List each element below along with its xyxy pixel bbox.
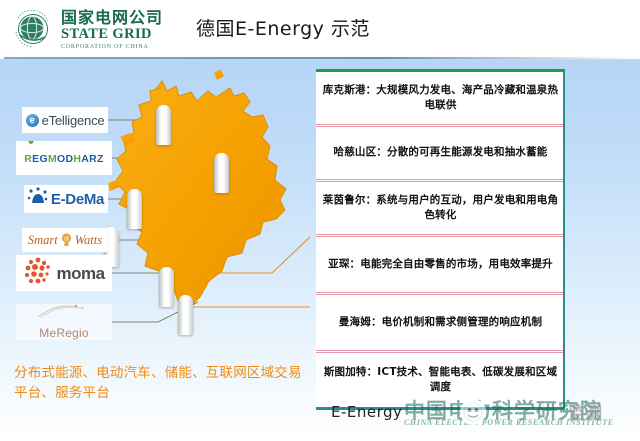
logo-card-smartwatts[interactable]: Smart @ Watts [22,228,108,252]
edema-burst-icon [28,187,48,211]
logo-label-etelligence: eTelligence [42,114,105,127]
panel-item-mannheim: 曼海姆：电价机制和需求侧管理的响应机制 [316,295,565,350]
logo-label-smart: Smart [28,234,58,247]
logo-label-meregio: MeRegio [39,326,88,340]
panel-item-harz: 哈慈山区：分散的可再生能源发电和抽水蓄能 [316,127,565,179]
regmodharz-arc-icon [27,141,101,148]
map-pin-rheinruhr [127,189,142,229]
meregio-swoosh-icon [36,306,92,323]
panel-item-text: 哈慈山区：分散的可再生能源发电和抽水蓄能 [334,145,548,160]
city-description-panel: 库克斯港：大规模风力发电、海产品冷藏和温泉热电联供 哈慈山区：分散的可再生能源发… [316,69,565,410]
panel-item-stuttgart: 斯图加特：ICT技术、智能电表、低碳发展和区域调度 [316,353,565,407]
etelligence-dot-icon: e [26,114,39,127]
moma-dots-icon [23,256,53,290]
slide-header: 国家电网公司 STATE GRID CORPORATION OF CHINA 德… [0,0,640,60]
logo-label-edema: E-DeMa [51,192,104,207]
logo-label-regmodharz: REGMODHARZ [24,153,103,165]
panel-item-text: 亚琛：电能完全自由零售的市场，用电效率提升 [328,257,553,272]
logo-card-edema[interactable]: E-DeMa [24,185,108,213]
logo-english-subtitle: CORPORATION OF CHINA [61,44,163,50]
panel-item-rheinruhr: 莱茵鲁尔：系统与用户的互动，用户发电和用电角色转化 [316,182,565,234]
panel-item-text: 曼海姆：电价机制和需求侧管理的响应机制 [339,315,542,330]
logo-card-moma[interactable]: moma [16,255,112,291]
e-energy-label: E-Energy [331,403,402,421]
map-pin-stuttgart [178,295,193,335]
panel-item-text: 库克斯港：大规模风力发电、海产品冷藏和温泉热电联供 [321,83,560,113]
page-title: 德国E-Energy 示范 [196,14,370,41]
panel-item-aachen: 亚琛：电能完全自由零售的市场，用电效率提升 [316,237,565,292]
logo-card-regmodharz[interactable]: REGMODHARZ Regenerative Modellregion Har… [16,141,112,175]
panel-right-divider [563,69,565,410]
map-pin-harz [214,153,229,193]
lightbulb-icon: @ [61,233,72,247]
panel-item-text: 斯图加特：ICT技术、智能电表、低碳发展和区域调度 [321,365,560,395]
panel-item-cuxhaven: 库克斯港：大规模风力发电、海产品冷藏和温泉热电联供 [316,72,565,124]
logo-label-moma: moma [56,265,104,282]
svg-text:@: @ [64,236,69,242]
logo-card-etelligence[interactable]: e eTelligence [22,107,108,133]
map-pin-mannheim [159,267,174,307]
logo-label-watts: Watts [75,234,102,247]
state-grid-wordmark: 国家电网公司 STATE GRID CORPORATION OF CHINA [61,8,163,50]
logo-english-name: STATE GRID [61,27,163,42]
map-pin-cuxhaven [156,105,171,145]
orange-summary-caption: 分布式能源、电动汽车、储能、互联网区域交易平台、服务平台 [14,364,304,403]
state-grid-globe-icon [12,8,54,50]
logo-card-meregio[interactable]: MeRegio [16,304,112,340]
logo-chinese-name: 国家电网公司 [61,10,163,26]
panel-item-text: 莱茵鲁尔：系统与用户的互动，用户发电和用电角色转化 [321,193,560,223]
state-grid-logo: 国家电网公司 STATE GRID CORPORATION OF CHINA [12,8,163,50]
slide-body: e eTelligence REGMODHARZ Rege [0,59,640,441]
